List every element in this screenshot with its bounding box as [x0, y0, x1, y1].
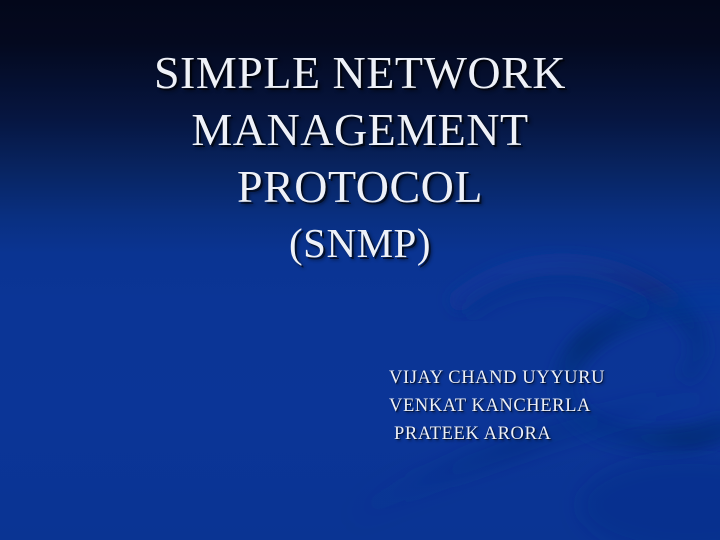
title-line-2: MANAGEMENT [60, 101, 660, 158]
author-line-1: VIJAY CHAND UYYURU [389, 364, 679, 392]
slide-title: SIMPLE NETWORK MANAGEMENT PROTOCOL (SNMP… [60, 44, 660, 272]
presentation-slide: SIMPLE NETWORK MANAGEMENT PROTOCOL (SNMP… [0, 0, 720, 540]
author-line-2: VENKAT KANCHERLA [389, 392, 679, 420]
author-line-3: PRATEEK ARORA [389, 420, 679, 448]
slide-subtitle-authors: VIJAY CHAND UYYURU VENKAT KANCHERLA PRAT… [389, 364, 679, 448]
title-line-3: PROTOCOL [60, 158, 660, 215]
swirl-loop-echo [468, 283, 644, 313]
swirl-arc-upper [460, 264, 699, 372]
title-line-4: (SNMP) [60, 215, 660, 272]
title-line-1: SIMPLE NETWORK [60, 44, 660, 101]
swirl-corner-shade [580, 457, 720, 540]
